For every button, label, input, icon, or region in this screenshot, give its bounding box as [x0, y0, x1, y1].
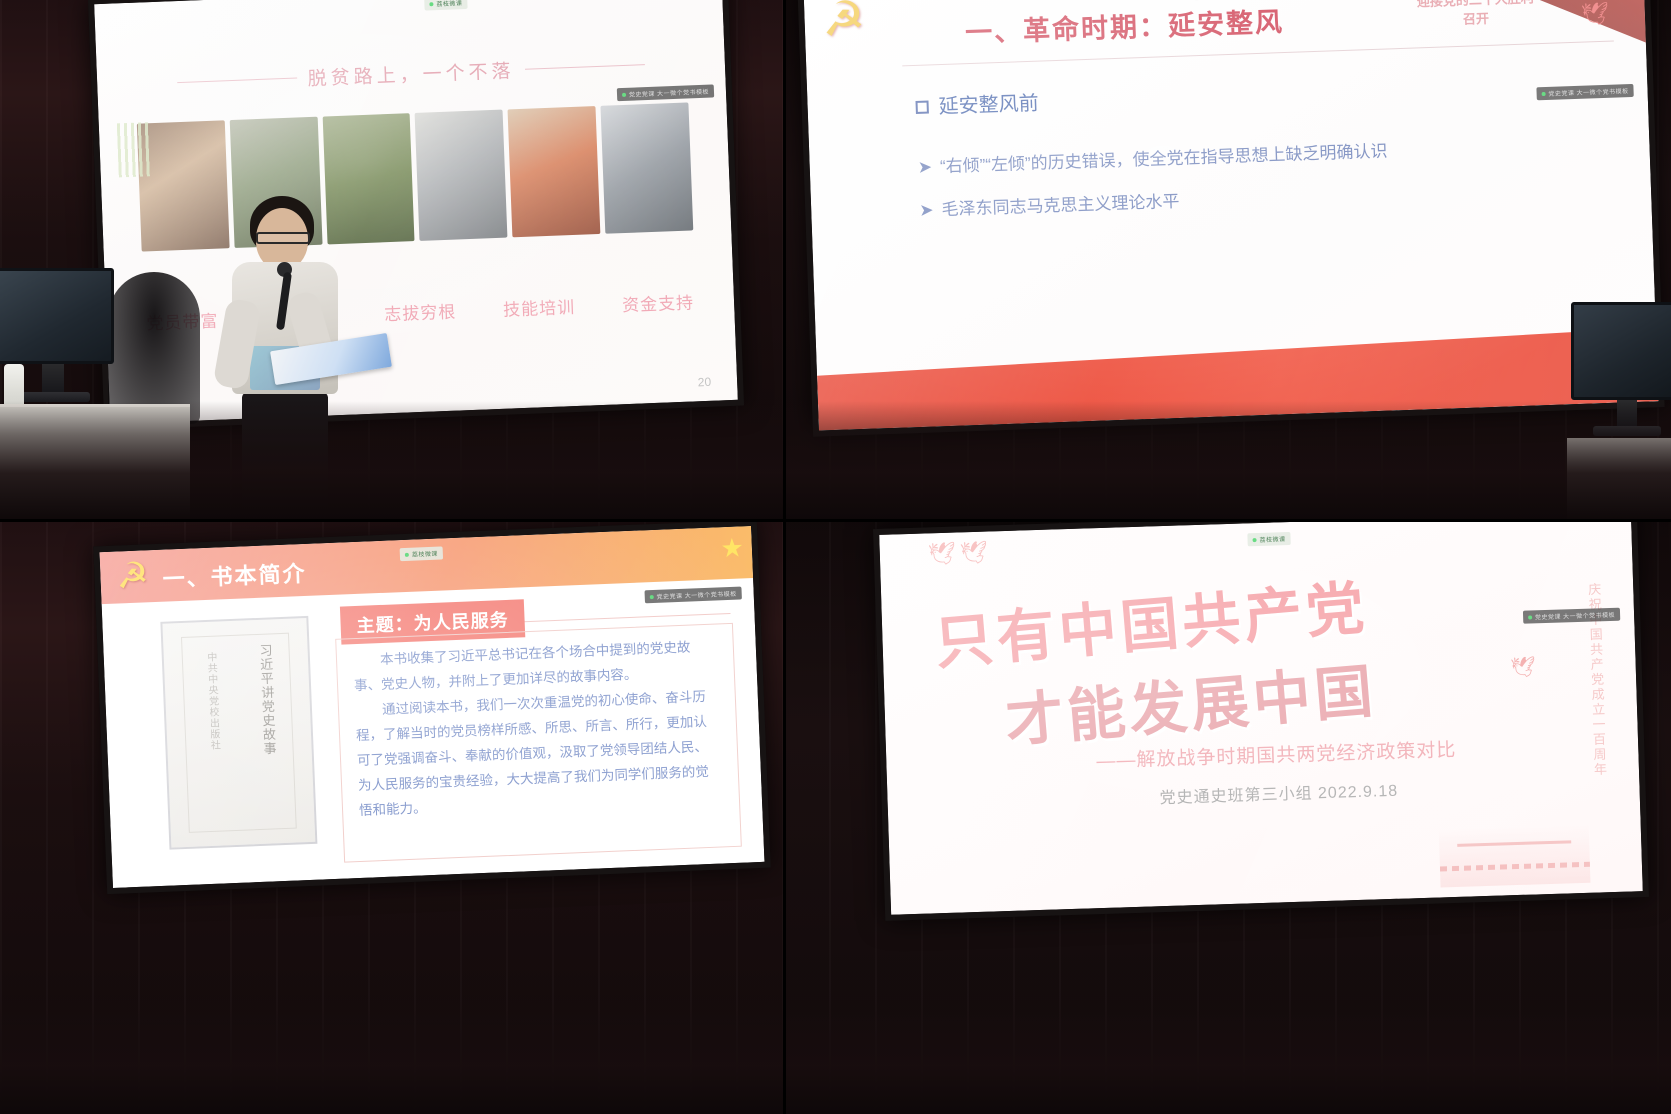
arrow-bullet-icon: ➤	[917, 157, 932, 176]
floor-2	[783, 401, 1671, 521]
arrow-bullet-icon: ➤	[919, 201, 934, 220]
slide-bullet: ➤“右倾”“左倾”的历史错误，使全党在指导思想上缺乏明确认识	[917, 130, 1610, 181]
hammer-and-sickle-icon: ☭	[108, 552, 158, 600]
watermark-top-1: 荔枝微课	[424, 0, 467, 11]
slide-slogan: 迎接党的二十大胜利召开	[1416, 0, 1535, 31]
monitor-screen	[1571, 302, 1671, 400]
watermark-side-3: 党史党课 大一微个党书模板	[644, 586, 742, 603]
book-cover-image: 习近平讲党史故事 中共中央党校出版社	[160, 616, 317, 850]
photo-thumb	[508, 106, 601, 237]
recording-dot-icon	[622, 93, 626, 97]
dove-icon: 🕊🕊	[927, 539, 992, 567]
projection-screen-2: ☭ 一、革命时期：延安整风 迎接党的二十大胜利召开 🕊 延安整风前 ➤“右倾”“…	[797, 0, 1664, 437]
watermark-side-4: 党史党课 大一微个党书模板	[1523, 608, 1621, 624]
slide-meta: 党史通史班第三小组 2022.9.18	[1159, 777, 1398, 808]
grid-divider-vertical	[783, 0, 786, 1114]
panel-book-introduction: ☭ 一、书本简介 ★ 习近平讲党史故事 中共中央党校出版社 主题：为人民服务 本…	[0, 521, 783, 1114]
paragraph: 通过阅读本书，我们一次次重温党的初心使命、奋斗历程，了解当时的党员榜样所感、所思…	[355, 684, 724, 823]
glasses-icon	[256, 232, 310, 244]
floor-4	[783, 994, 1671, 1114]
recording-dot-icon	[405, 553, 409, 557]
monitor-stand	[42, 364, 64, 394]
panel-yanan-rectification: ☭ 一、革命时期：延安整风 迎接党的二十大胜利召开 🕊 延安整风前 ➤“右倾”“…	[783, 0, 1671, 521]
slide-content-3: ☭ 一、书本简介 ★ 习近平讲党史故事 中共中央党校出版社 主题：为人民服务 本…	[100, 526, 765, 888]
recording-dot-icon	[429, 3, 433, 7]
recording-dot-icon	[650, 595, 654, 599]
slide-label-5: 资金支持	[622, 288, 695, 316]
slide-content-2: ☭ 一、革命时期：延安整风 迎接党的二十大胜利召开 🕊 延安整风前 ➤“右倾”“…	[804, 0, 1659, 431]
slide-label-4: 技能培训	[503, 293, 576, 321]
slide-decor-bars	[117, 122, 153, 177]
photo-thumb	[415, 110, 508, 241]
slide-title: 一、书本简介	[162, 556, 307, 594]
title-rule-right	[524, 64, 644, 70]
slide-label-3: 志拔穷根	[384, 298, 457, 326]
recording-dot-icon	[1528, 616, 1532, 620]
slide-body-2: 延安整风前 ➤“右倾”“左倾”的历史错误，使全党在指导思想上缺乏明确认识 ➤毛泽…	[915, 67, 1612, 240]
checkbox-icon	[915, 100, 928, 113]
slide-label-row: 党员带富 因地制宜 志拔穷根 技能培训 资金支持	[124, 288, 717, 336]
tiananmen-icon	[1439, 825, 1591, 888]
hammer-and-sickle-icon: ☭	[812, 0, 876, 50]
watermark-top-4: 荔枝微课	[1247, 532, 1290, 546]
recording-dot-icon	[1253, 538, 1257, 542]
panel-cpc-develops-china: 🕊🕊 只有中国共产党 才能发展中国 🕊 ——解放战争时期国共两党经济政策对比 党…	[783, 521, 1671, 1114]
slide-photo-strip	[117, 102, 713, 253]
slide-title: 一、革命时期：延安整风	[964, 0, 1284, 50]
floor-1	[0, 401, 783, 521]
photo-thumb	[601, 102, 694, 233]
photo-grid: 脱贫路上，一个不落 党员带富 因地制宜 志拔穷根 技能培训 资金支持	[0, 0, 1671, 1114]
watermark-side-1: 党史党课 大一微个党书模板	[617, 84, 715, 101]
book-title-text: 习近平讲党史故事	[249, 643, 275, 756]
dove-icon-right: 🕊	[1510, 654, 1540, 680]
slide-page-number: 20	[698, 375, 712, 390]
slide-bullet: ➤毛泽东同志马克思主义理论水平	[919, 173, 1612, 224]
panel-poverty-alleviation: 脱贫路上，一个不落 党员带富 因地制宜 志拔穷根 技能培训 资金支持	[0, 0, 783, 521]
monitor-screen	[0, 268, 114, 364]
slide-text-card: 本书收集了习近平总书记在各个场合中提到的党史故事、党史人物，并附上了更加详尽的故…	[335, 623, 742, 863]
book-publisher-text: 中共中央党校出版社	[198, 652, 222, 752]
watermark-top-3: 荔枝微课	[400, 546, 444, 561]
slide-title: 脱贫路上，一个不落	[307, 56, 515, 91]
projection-screen-4: 🕊🕊 只有中国共产党 才能发展中国 🕊 ——解放战争时期国共两党经济政策对比 党…	[873, 521, 1649, 921]
watermark-side-2: 党史党课 大一微个党书模板	[1536, 84, 1634, 100]
floor-3	[0, 994, 783, 1114]
dove-icon: 🕊	[1580, 1, 1611, 28]
grid-divider-horizontal	[0, 519, 1671, 522]
projection-screen-3: ☭ 一、书本简介 ★ 习近平讲党史故事 中共中央党校出版社 主题：为人民服务 本…	[93, 521, 770, 894]
title-rule-left	[178, 77, 298, 83]
recording-dot-icon	[1541, 92, 1545, 96]
slide-content-4: 🕊🕊 只有中国共产党 才能发展中国 🕊 ——解放战争时期国共两党经济政策对比 党…	[879, 521, 1643, 915]
star-icon: ★	[720, 532, 745, 564]
